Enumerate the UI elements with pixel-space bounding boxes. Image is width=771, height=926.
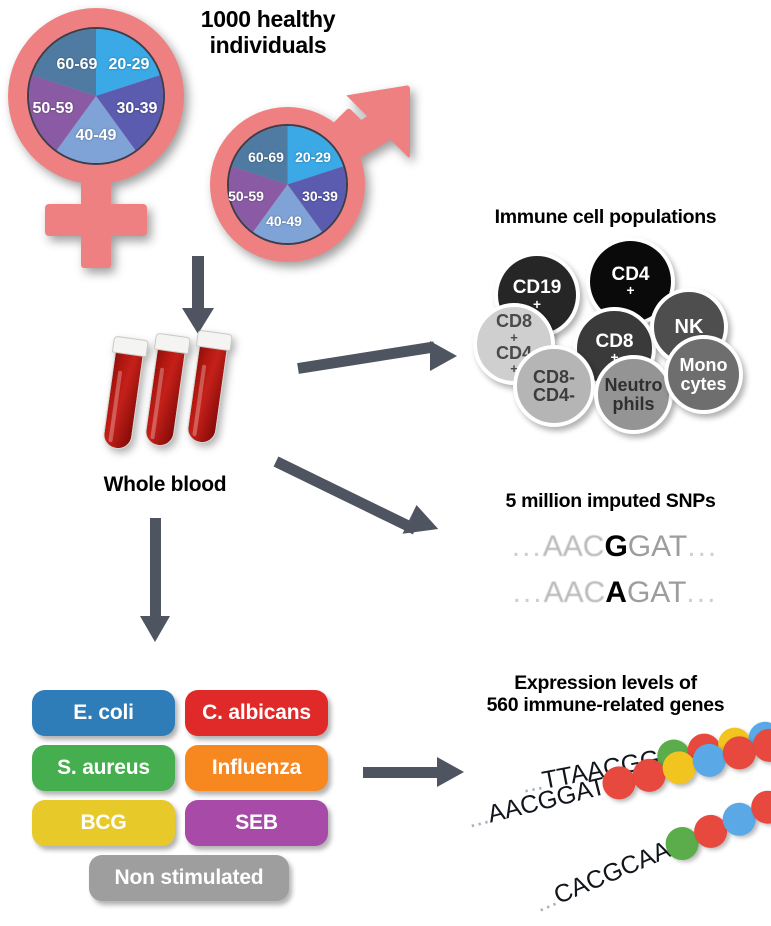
stimulus-label: Influenza	[212, 756, 301, 780]
gene-bead	[718, 797, 761, 840]
gene-bead	[719, 732, 759, 772]
pie-label-male-40-49: 40-49	[254, 213, 314, 229]
snp-variant-base: G	[604, 530, 627, 563]
gene-bead	[750, 725, 771, 765]
pie-label-female-50-59: 50-59	[20, 100, 86, 118]
immune-cell-label: CD8-CD4-	[533, 368, 575, 405]
gene-bead	[599, 762, 639, 802]
gene-sequence-text: ...TTAACGG	[519, 744, 662, 799]
stimulus-button-non-stimulated[interactable]: Non stimulated	[89, 855, 289, 901]
gene-strand: ...AACGGAT	[462, 711, 771, 842]
snp-variant-base: A	[605, 576, 627, 609]
blood-tubes	[115, 330, 245, 460]
gene-bead	[629, 755, 669, 795]
snp-ellipsis-right: ...	[686, 576, 717, 609]
gene-strand: ...CACGCAA	[527, 767, 771, 926]
blood-tube	[102, 336, 146, 451]
stimulus-button-e-coli[interactable]: E. coli	[32, 690, 175, 736]
gene-bead	[746, 785, 771, 828]
arrow-blood-to-snps	[276, 450, 466, 550]
expression-panel-title: Expression levels of560 immune-related g…	[440, 672, 771, 717]
snp-suffix: GAT	[627, 576, 686, 609]
gene-bead	[689, 740, 729, 780]
blood-tube	[144, 333, 188, 448]
stimulus-label: S. aureus	[57, 756, 150, 780]
arrow-blood-to-immune	[296, 330, 471, 390]
immune-panel-title: Immune cell populations	[440, 206, 771, 228]
blood-tube	[186, 330, 230, 445]
female-cross	[45, 204, 147, 236]
snp-ellipsis-left: ...	[513, 576, 544, 609]
female-symbol: 60-69 20-29 30-39 40-49 50-59	[8, 8, 198, 273]
snp-prefix: AAC	[544, 576, 606, 609]
page-title: 1000 healthyindividuals	[168, 6, 368, 59]
stimulus-label: BCG	[80, 811, 126, 835]
immune-cell-label: Neutrophils	[605, 376, 663, 413]
diagram-canvas: 1000 healthyindividuals 60-69 20-29 30-3…	[0, 0, 771, 922]
stimulus-button-c-albicans[interactable]: C. albicans	[185, 690, 328, 736]
snp-panel-title: 5 million imputed SNPs	[450, 490, 771, 512]
gene-bead	[661, 821, 704, 864]
pie-label-female-20-29: 20-29	[96, 56, 162, 74]
gene-bead	[654, 736, 693, 775]
tube-body	[144, 346, 186, 448]
stimulus-label: E. coli	[73, 701, 133, 725]
stimulus-button-s-aureus[interactable]: S. aureus	[32, 745, 175, 791]
snp-suffix: GAT	[628, 530, 687, 563]
gene-bead	[689, 809, 732, 852]
immune-cell-cd8-cd4[interactable]: CD8-CD4-	[513, 345, 595, 427]
stimulus-label: Non stimulated	[115, 866, 264, 890]
stimulus-button-bcg[interactable]: BCG	[32, 800, 175, 846]
pie-label-male-30-39: 30-39	[290, 188, 350, 204]
snp-sequence-row: ...AACGGAT...	[470, 530, 760, 564]
immune-cell-label: NK	[675, 317, 704, 337]
tube-body	[102, 349, 144, 451]
gene-bead	[659, 747, 699, 787]
snp-sequence-row: ...AACAGAT...	[470, 576, 760, 610]
gene-bead	[745, 718, 771, 757]
snp-ellipsis-right: ...	[687, 530, 718, 563]
immune-cell-label: CD4+	[611, 265, 649, 298]
pie-label-male-20-29: 20-29	[283, 149, 343, 165]
gene-sequence-text: ...AACGGAT	[464, 772, 608, 834]
whole-blood-label: Whole blood	[60, 473, 270, 497]
snp-sequences: ...AACGGAT......AACAGAT...	[470, 530, 760, 620]
snp-prefix: AAC	[543, 530, 605, 563]
pie-label-female-30-39: 30-39	[104, 100, 170, 118]
immune-cell-neutrophils[interactable]: Neutrophils	[594, 355, 673, 434]
pie-label-male-50-59: 50-59	[216, 188, 276, 204]
immune-cell-monocytes[interactable]: Monocytes	[664, 335, 743, 414]
gene-strand: ...TTAACGG	[518, 706, 771, 807]
stimulus-button-seb[interactable]: SEB	[185, 800, 328, 846]
tube-body	[186, 343, 228, 445]
gene-sequence-text: ...CACGCAA	[530, 835, 674, 918]
pie-label-female-40-49: 40-49	[63, 127, 129, 145]
gene-bead	[685, 730, 724, 769]
stimulus-label: SEB	[235, 811, 278, 835]
snp-ellipsis-left: ...	[512, 530, 543, 563]
immune-cell-label: Monocytes	[680, 356, 728, 393]
gene-bead	[715, 724, 754, 763]
stimulus-label: C. albicans	[202, 701, 311, 725]
arrow-stimuli-to-expression	[363, 757, 479, 789]
male-symbol: 60-69 20-29 30-39 40-49 50-59	[200, 85, 435, 265]
stimulus-button-influenza[interactable]: Influenza	[185, 745, 328, 791]
